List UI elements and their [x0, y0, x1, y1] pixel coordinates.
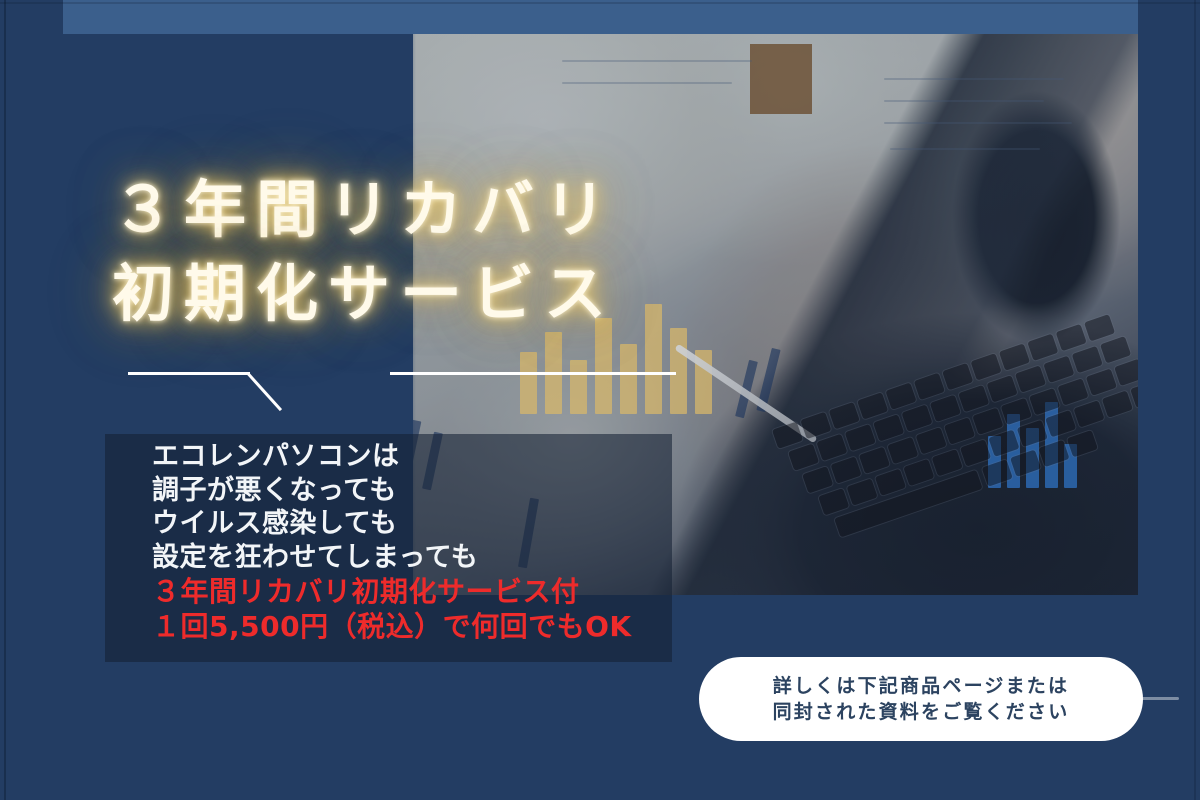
callout-line-2: 同封された資料をご覧ください	[773, 699, 1070, 725]
photo-doc-rule	[562, 82, 732, 84]
callout-line-1: 詳しくは下記商品ページまたは	[773, 673, 1069, 699]
photo-brown-swatch	[750, 44, 812, 114]
photo-doc-rule	[884, 122, 1072, 124]
body-text: エコレンパソコンは 調子が悪くなっても ウイルス感染しても 設定を狂わせてしまっ…	[152, 440, 692, 644]
top-accent-bar	[63, 0, 1138, 34]
photo-doc-rule	[884, 100, 1044, 102]
body-line: ウイルス感染しても	[152, 507, 692, 541]
callout-pill[interactable]: 詳しくは下記商品ページまたは 同封された資料をご覧ください	[699, 657, 1143, 741]
body-line: 設定を狂わせてしまっても	[152, 541, 692, 575]
headline: ３年間リカバリ 初期化サービス	[112, 168, 872, 337]
frame-edge-left	[4, 0, 6, 800]
headline-line-2: 初期化サービス	[112, 252, 872, 336]
promo-banner: ３年間リカバリ 初期化サービス エコレンパソコンは 調子が悪くなっても ウイルス…	[0, 0, 1200, 800]
photo-doc-rule	[562, 60, 752, 62]
rule-segment-left	[128, 372, 250, 375]
rule-segment-right	[390, 372, 676, 375]
frame-edge-top	[0, 2, 1200, 4]
photo-doc-rule	[884, 78, 1064, 80]
decorative-rule	[128, 372, 676, 418]
body-line-accent: ３年間リカバリ初期化サービス付	[152, 574, 692, 609]
body-line: 調子が悪くなっても	[152, 474, 692, 508]
body-line-accent: １回5,500円（税込）で何回でもOK	[152, 609, 692, 644]
photo-doc-rule	[890, 148, 1040, 150]
body-line: エコレンパソコンは	[152, 440, 692, 474]
headline-line-1: ３年間リカバリ	[112, 168, 872, 252]
frame-edge-right	[1194, 0, 1196, 800]
rule-angled-tick	[246, 372, 282, 411]
